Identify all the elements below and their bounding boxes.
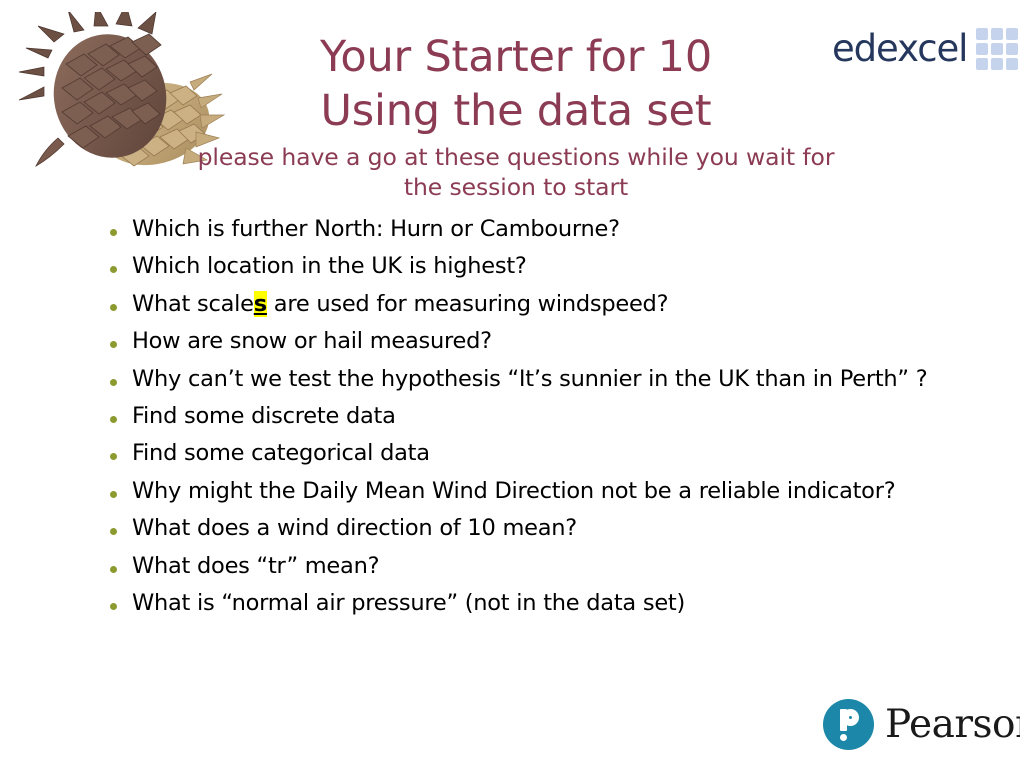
bullet-dot-icon <box>110 566 117 573</box>
list-item-label: What is “normal air pressure” (not in th… <box>132 590 685 616</box>
title-line-1: Your Starter for 10 <box>196 30 836 84</box>
edexcel-grid-icon <box>976 28 1018 70</box>
bullet-dot-icon <box>110 304 117 311</box>
list-item-label: What does “tr” mean? <box>132 553 379 579</box>
list-item: Why might the Daily Mean Wind Direction … <box>104 480 984 503</box>
list-item: What is “normal air pressure” (not in th… <box>104 592 984 615</box>
title-block: Your Starter for 10 Using the data set p… <box>196 30 836 203</box>
list-item-label-post: are used for measuring windspeed? <box>267 291 668 317</box>
list-item: Why can’t we test the hypothesis “It’s s… <box>104 368 984 391</box>
list-item-label-pre: What scale <box>132 291 254 317</box>
bullet-dot-icon <box>110 341 117 348</box>
list-item: What scales are used for measuring winds… <box>104 293 984 316</box>
list-item-label: Which is further North: Hurn or Cambourn… <box>132 216 620 242</box>
list-item: Find some categorical data <box>104 442 984 465</box>
edexcel-logo: edexcel <box>832 26 1018 70</box>
list-item-label: Find some discrete data <box>132 403 396 429</box>
bullet-dot-icon <box>110 603 117 610</box>
bullet-dot-icon <box>110 379 117 386</box>
highlighted-text: s <box>254 291 267 317</box>
bullet-dot-icon <box>110 229 117 236</box>
list-item-label: Why can’t we test the hypothesis “It’s s… <box>132 366 927 392</box>
bullet-dot-icon <box>110 266 117 273</box>
pearson-wordmark: Pearson <box>885 705 1020 744</box>
pearson-p-icon <box>823 699 874 750</box>
list-item-label: What does a wind direction of 10 mean? <box>132 515 577 541</box>
pearson-logo: Pearson <box>823 699 1020 750</box>
title-line-2: Using the data set <box>196 84 836 138</box>
page-subtitle: please have a go at these questions whil… <box>196 142 836 202</box>
list-item: How are snow or hail measured? <box>104 330 984 353</box>
list-item-label: Find some categorical data <box>132 440 430 466</box>
list-item: Which location in the UK is highest? <box>104 255 984 278</box>
bullet-dot-icon <box>110 528 117 535</box>
pine-cones-image <box>14 12 226 192</box>
list-item-label: Which location in the UK is highest? <box>132 253 527 279</box>
list-item: Find some discrete data <box>104 405 984 428</box>
list-item-label: How are snow or hail measured? <box>132 328 492 354</box>
list-item-label: Why might the Daily Mean Wind Direction … <box>132 478 895 504</box>
bullet-dot-icon <box>110 491 117 498</box>
page-title: Your Starter for 10 Using the data set <box>196 30 836 138</box>
bullet-dot-icon <box>110 453 117 460</box>
list-item: What does a wind direction of 10 mean? <box>104 517 984 540</box>
question-list: Which is further North: Hurn or Cambourn… <box>104 218 984 615</box>
list-item: What does “tr” mean? <box>104 555 984 578</box>
edexcel-wordmark: edexcel <box>832 30 967 67</box>
slide-canvas: edexcel Your Starter for 10 Using the da… <box>0 0 1020 765</box>
list-item: Which is further North: Hurn or Cambourn… <box>104 218 984 241</box>
bullet-dot-icon <box>110 416 117 423</box>
